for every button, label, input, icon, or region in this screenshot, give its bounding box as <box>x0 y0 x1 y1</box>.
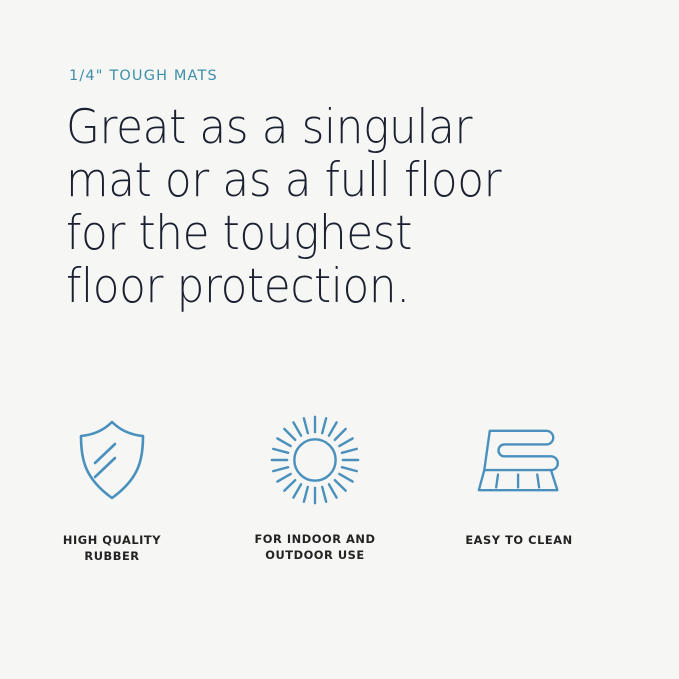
headline-line: floor protection. <box>66 260 503 313</box>
feature-item-easy-to-clean: EASY TO CLEAN <box>424 408 614 548</box>
eyebrow-label: 1/4" TOUGH MATS <box>69 68 218 84</box>
feature-item-indoor-outdoor-use: FOR INDOOR AND OUTDOOR USE <box>220 408 410 563</box>
headline-line: Great as a singular <box>66 101 503 154</box>
caption-line: HIGH QUALITY <box>17 532 207 548</box>
product-feature-banner: 1/4" TOUGH MATS Great as a singular mat … <box>0 0 679 679</box>
caption-line: OUTDOOR USE <box>220 547 410 563</box>
headline-line: mat or as a full floor <box>66 154 503 207</box>
feature-list: HIGH QUALITY RUBBER <box>0 408 679 578</box>
feature-caption: EASY TO CLEAN <box>424 532 614 548</box>
page-title: Great as a singular mat or as a full flo… <box>66 101 536 313</box>
scrub-brush-icon <box>424 408 614 512</box>
shield-icon <box>17 408 207 512</box>
feature-caption: HIGH QUALITY RUBBER <box>17 532 207 564</box>
sun-icon <box>220 408 410 512</box>
feature-item-high-quality-rubber: HIGH QUALITY RUBBER <box>17 408 207 564</box>
feature-caption: FOR INDOOR AND OUTDOOR USE <box>220 531 410 563</box>
headline-line: for the toughest <box>66 207 503 260</box>
caption-line: EASY TO CLEAN <box>424 532 614 548</box>
caption-line: FOR INDOOR AND <box>220 531 410 547</box>
caption-line: RUBBER <box>17 548 207 564</box>
